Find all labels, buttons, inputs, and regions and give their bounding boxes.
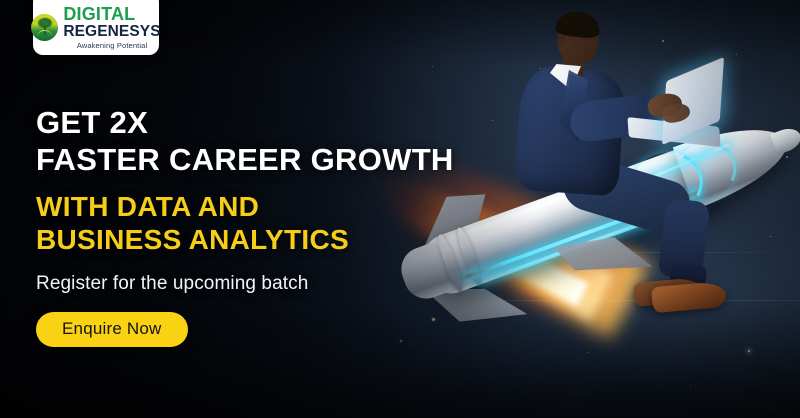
logo-tagline: Awakening Potential [63,42,160,50]
promo-banner: DIGITAL REGENESYS Awakening Potential GE… [0,0,800,418]
subtitle-text: Register for the upcoming batch [36,273,506,295]
logo-line-digital: DIGITAL [63,5,160,23]
copy-block: GET 2X FASTER CAREER GROWTH WITH DATA AN… [36,106,506,347]
tree-emblem-icon [31,14,58,41]
logo-line-regenesys: REGENESYS [63,24,160,40]
headline-line-3: WITH DATA AND [36,191,506,224]
headline-line-2: FASTER CAREER GROWTH [36,143,506,178]
headline-line-1: GET 2X [36,106,506,141]
brand-logo[interactable]: DIGITAL REGENESYS Awakening Potential [33,0,159,55]
enquire-now-button[interactable]: Enquire Now [36,312,188,347]
headline-line-4: BUSINESS ANALYTICS [36,224,506,257]
